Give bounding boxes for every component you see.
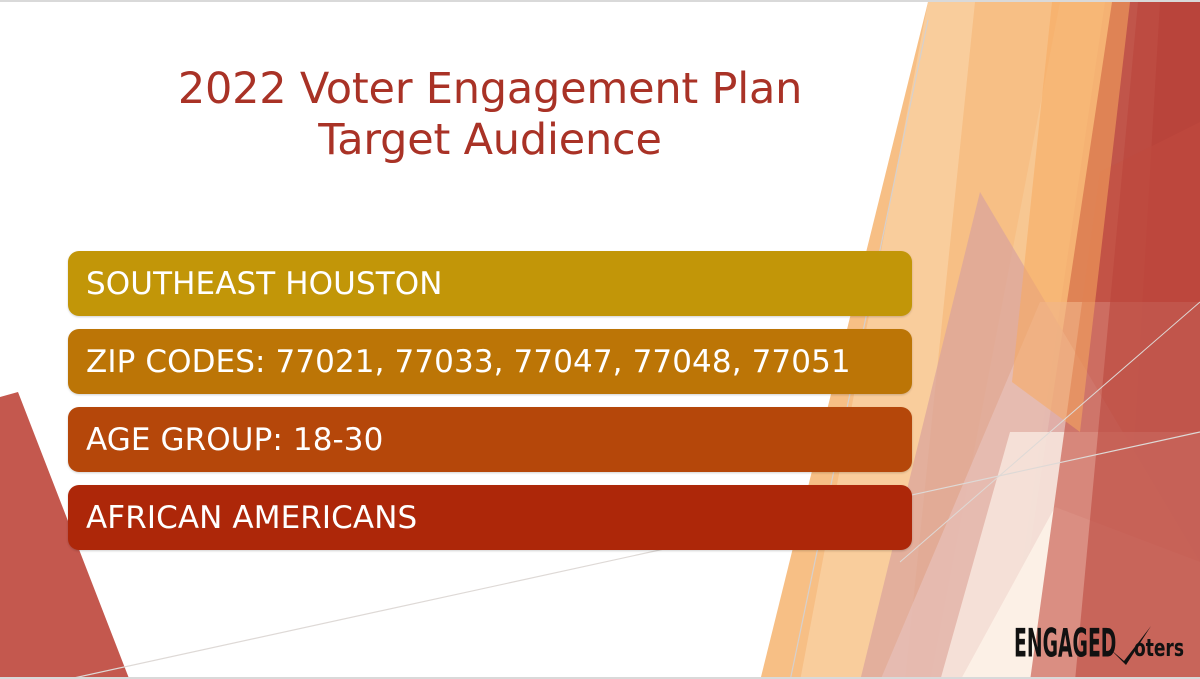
bar-zip-codes: ZIP CODES: 77021, 77033, 77047, 77048, 7… <box>68 329 912 394</box>
deco-overlay-peach-1 <box>1012 2 1130 432</box>
logo-text-oters: oters <box>1134 634 1184 662</box>
bar-label: AGE GROUP: 18-30 <box>86 423 383 457</box>
bar-label: SOUTHEAST HOUSTON <box>86 267 443 301</box>
title-line-1: 2022 Voter Engagement Plan <box>70 64 910 115</box>
bar-southeast-houston: SOUTHEAST HOUSTON <box>68 251 912 316</box>
page-title: 2022 Voter Engagement Plan Target Audien… <box>70 64 910 166</box>
deco-overlay-red-4 <box>1075 2 1200 679</box>
deco-overlay-red-3 <box>1030 122 1200 679</box>
bar-label: ZIP CODES: 77021, 77033, 77047, 77048, 7… <box>86 345 851 379</box>
title-line-2: Target Audience <box>70 115 910 166</box>
deco-right-darkred-2 <box>1120 2 1200 679</box>
engaged-voters-logo: ENGAGED oters <box>1014 616 1186 666</box>
target-audience-bar-list: SOUTHEAST HOUSTON ZIP CODES: 77021, 7703… <box>68 251 912 550</box>
bar-african-americans: AFRICAN AMERICANS <box>68 485 912 550</box>
deco-hairline-3 <box>900 302 1200 562</box>
bar-label: AFRICAN AMERICANS <box>86 501 417 535</box>
slide: 2022 Voter Engagement Plan Target Audien… <box>0 0 1200 679</box>
logo-text-engaged: ENGAGED <box>1014 620 1116 666</box>
deco-right-darkred-1 <box>1010 2 1200 679</box>
deco-right-orange-3 <box>930 2 1112 679</box>
bar-age-group: AGE GROUP: 18-30 <box>68 407 912 472</box>
